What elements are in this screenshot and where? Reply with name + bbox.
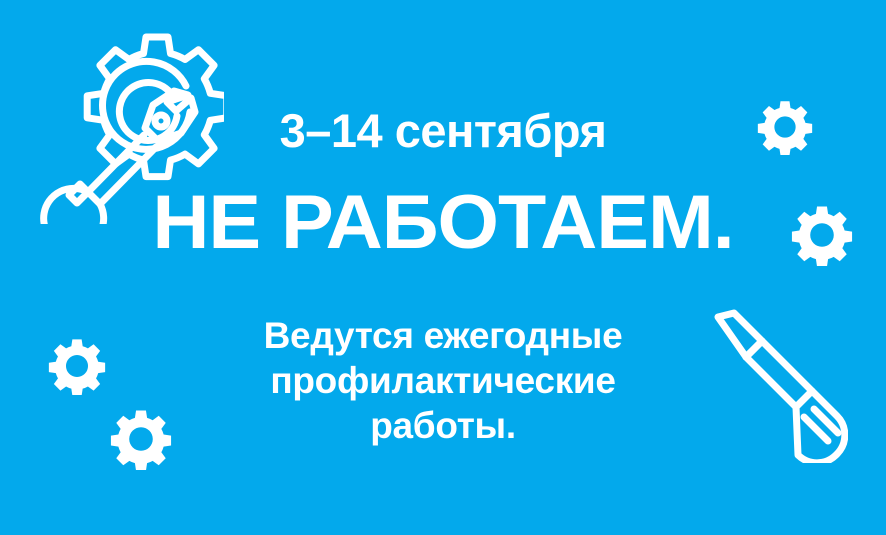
maintenance-description: Ведутся ежегодные профилактические работ… (0, 313, 886, 448)
banner-text-block: 3–14 сентября НЕ РАБОТАЕМ. Ведутся ежего… (0, 0, 886, 535)
maintenance-date-range: 3–14 сентября (0, 103, 886, 159)
maintenance-notice-banner: 3–14 сентября НЕ РАБОТАЕМ. Ведутся ежего… (0, 0, 886, 535)
maintenance-description-line-2: профилактические (0, 358, 886, 403)
page-title: НЕ РАБОТАЕМ. (0, 182, 886, 264)
maintenance-description-line-1: Ведутся ежегодные (0, 313, 886, 358)
maintenance-description-line-3: работы. (0, 403, 886, 448)
